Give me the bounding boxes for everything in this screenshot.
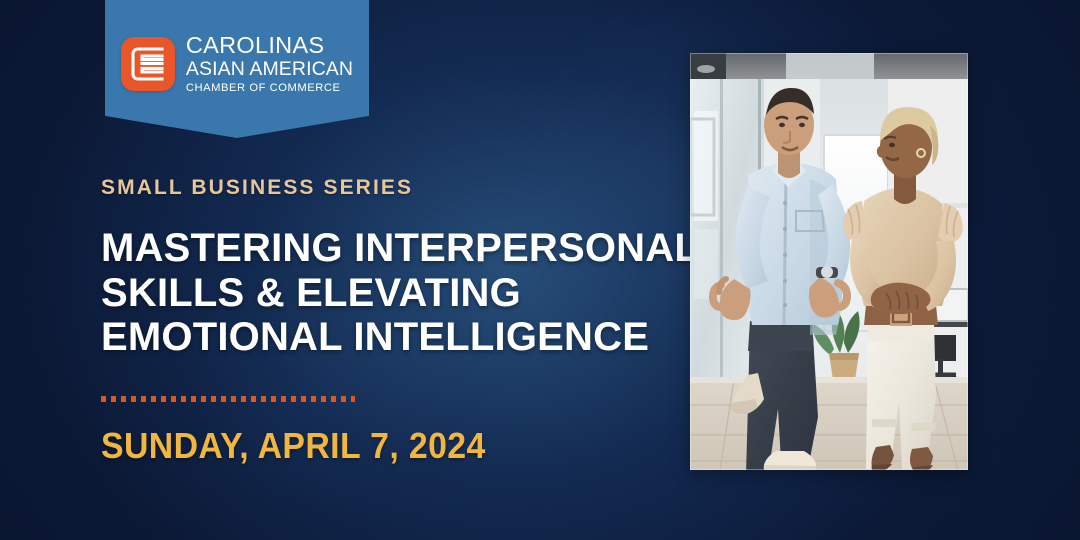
text-column: SMALL BUSINESS SERIES MASTERING INTERPER… xyxy=(101,176,701,467)
page-title: MASTERING INTERPERSONAL SKILLS & ELEVATI… xyxy=(101,226,701,360)
dotted-divider xyxy=(101,396,355,402)
logo-line-carolinas: CAROLINAS xyxy=(186,34,353,58)
logo-line-asian-american: ASIAN AMERICAN xyxy=(186,60,353,80)
logo-wordmark: CAROLINAS ASIAN AMERICAN CHAMBER OF COMM… xyxy=(186,34,353,94)
caacc-monogram-icon xyxy=(121,37,175,91)
event-date: SUNDAY, APRIL 7, 2024 xyxy=(101,425,665,467)
headline-line-3: EMOTIONAL INTELLIGENCE xyxy=(101,315,701,360)
logo-lockup: CAROLINAS ASIAN AMERICAN CHAMBER OF COMM… xyxy=(121,34,353,94)
event-photo xyxy=(690,53,968,470)
headline-line-2: SKILLS & ELEVATING xyxy=(101,271,701,316)
series-eyebrow: SMALL BUSINESS SERIES xyxy=(101,176,701,200)
logo-ribbon: CAROLINAS ASIAN AMERICAN CHAMBER OF COMM… xyxy=(105,0,369,138)
headline-line-1: MASTERING INTERPERSONAL xyxy=(101,226,701,271)
event-banner: CAROLINAS ASIAN AMERICAN CHAMBER OF COMM… xyxy=(0,0,1080,540)
logo-line-chamber-of-commerce: CHAMBER OF COMMERCE xyxy=(186,83,353,94)
